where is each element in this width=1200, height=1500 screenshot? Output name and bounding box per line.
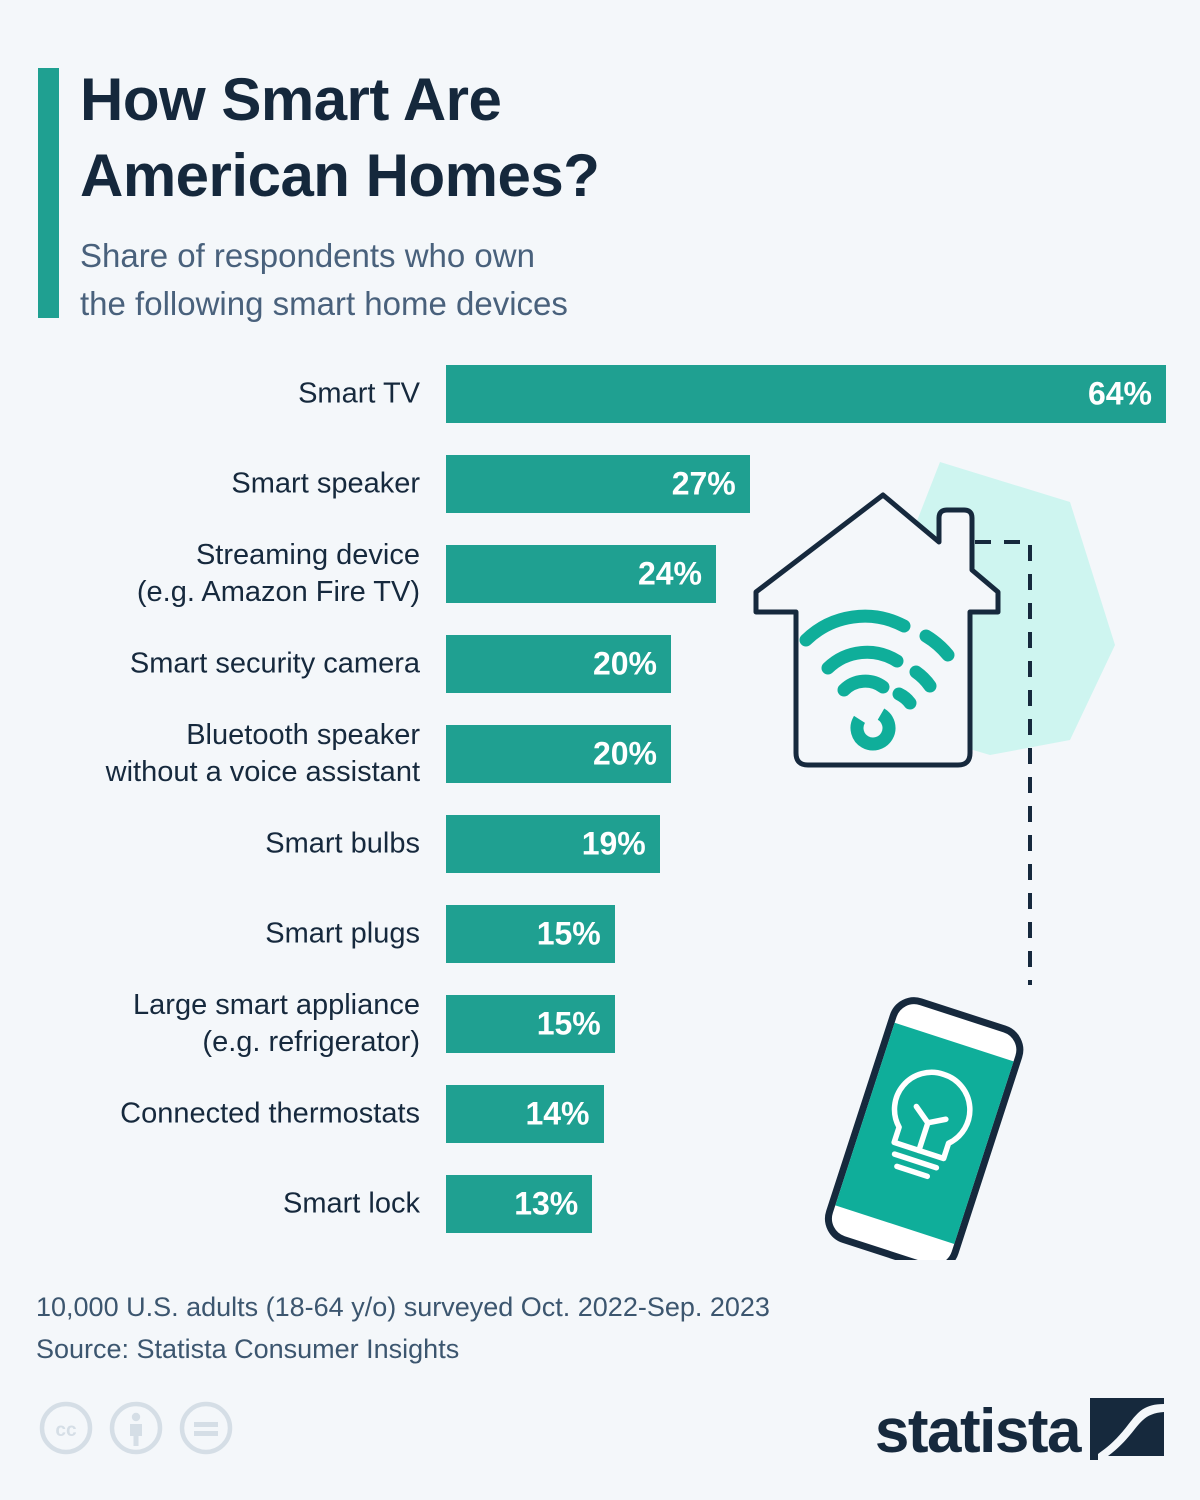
footer-notes: 10,000 U.S. adults (18-64 y/o) surveyed … [36, 1286, 936, 1370]
bar-label: Smart lock [0, 1185, 420, 1222]
bar-track: 19% [446, 815, 660, 873]
header: How Smart Are American Homes? Share of r… [0, 0, 1200, 350]
cc-icon[interactable]: cc [38, 1400, 94, 1461]
bar-label: Smart security camera [0, 645, 420, 682]
bar-track: 24% [446, 545, 716, 603]
bar-row: Smart plugs15% [0, 905, 1200, 963]
bar-row: Bluetooth speaker without a voice assist… [0, 725, 1200, 783]
bar-row: Smart speaker27% [0, 455, 1200, 513]
bar-chart: Smart TV64%Smart speaker27%Streaming dev… [0, 365, 1200, 1250]
cc-by-attribution-icon[interactable] [108, 1400, 164, 1461]
bar-track: 15% [446, 995, 615, 1053]
bar-fill[interactable]: 24% [446, 545, 716, 603]
bar-row: Smart TV64% [0, 365, 1200, 423]
bar-track: 27% [446, 455, 750, 513]
bar-label: Smart plugs [0, 915, 420, 952]
page-title: How Smart Are American Homes? [80, 62, 940, 214]
bar-row: Smart security camera20% [0, 635, 1200, 693]
bar-value-label: 13% [514, 1186, 578, 1223]
bar-label: Smart speaker [0, 465, 420, 502]
bar-track: 20% [446, 635, 671, 693]
bar-label: Connected thermostats [0, 1095, 420, 1132]
accent-bar [38, 68, 59, 318]
bar-label: Large smart appliance (e.g. refrigerator… [0, 987, 420, 1061]
creative-commons-icons: cc [38, 1400, 234, 1461]
page-subtitle: Share of respondents who own the followi… [80, 232, 840, 328]
bar-value-label: 19% [582, 826, 646, 863]
source-note: Source: Statista Consumer Insights [36, 1328, 936, 1370]
bar-fill[interactable]: 14% [446, 1085, 604, 1143]
bar-fill[interactable]: 27% [446, 455, 750, 513]
bar-row: Large smart appliance (e.g. refrigerator… [0, 995, 1200, 1053]
bar-track: 14% [446, 1085, 604, 1143]
statista-logo: statista [875, 1398, 1164, 1465]
bar-value-label: 14% [525, 1096, 589, 1133]
bar-fill[interactable]: 15% [446, 905, 615, 963]
statista-mark-icon [1090, 1398, 1164, 1465]
bar-label: Bluetooth speaker without a voice assist… [0, 717, 420, 791]
bar-fill[interactable]: 64% [446, 365, 1166, 423]
bar-row: Streaming device (e.g. Amazon Fire TV)24… [0, 545, 1200, 603]
bar-label: Smart TV [0, 375, 420, 412]
bar-track: 13% [446, 1175, 592, 1233]
survey-note: 10,000 U.S. adults (18-64 y/o) surveyed … [36, 1286, 936, 1328]
bar-fill[interactable]: 13% [446, 1175, 592, 1233]
bar-fill[interactable]: 20% [446, 725, 671, 783]
bar-track: 15% [446, 905, 615, 963]
bar-value-label: 15% [537, 916, 601, 953]
bar-track: 64% [446, 365, 1166, 423]
bar-value-label: 27% [672, 466, 736, 503]
bar-row: Smart bulbs19% [0, 815, 1200, 873]
bar-value-label: 20% [593, 736, 657, 773]
bar-value-label: 20% [593, 646, 657, 683]
bar-label: Smart bulbs [0, 825, 420, 862]
bar-fill[interactable]: 15% [446, 995, 615, 1053]
bar-value-label: 15% [537, 1006, 601, 1043]
bar-fill[interactable]: 20% [446, 635, 671, 693]
bar-fill[interactable]: 19% [446, 815, 660, 873]
svg-text:cc: cc [55, 1420, 77, 1441]
bar-value-label: 64% [1088, 376, 1152, 413]
infographic-root: How Smart Are American Homes? Share of r… [0, 0, 1200, 1500]
bar-row: Smart lock13% [0, 1175, 1200, 1233]
bar-row: Connected thermostats14% [0, 1085, 1200, 1143]
cc-nd-noderivatives-icon[interactable] [178, 1400, 234, 1461]
bar-label: Streaming device (e.g. Amazon Fire TV) [0, 537, 420, 611]
statista-wordmark: statista [875, 1401, 1080, 1463]
bar-value-label: 24% [638, 556, 702, 593]
bar-track: 20% [446, 725, 671, 783]
